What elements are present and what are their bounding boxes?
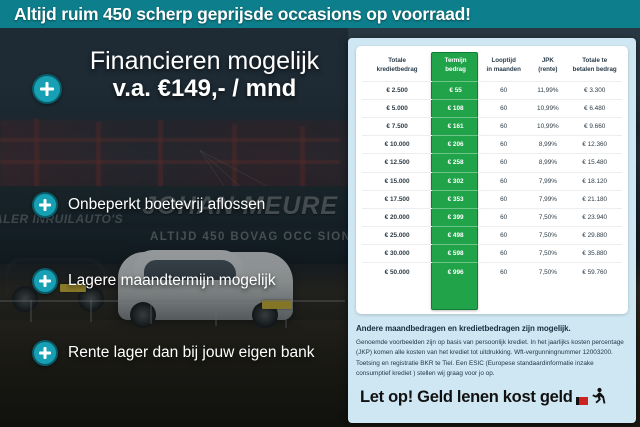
col-header-krediet-bottom: kredietbedrag <box>377 66 418 73</box>
table-row: € 7.500€ 1616010,99%€ 9.660 <box>362 117 622 135</box>
plus-icon <box>32 268 58 294</box>
running-man-icon <box>579 387 605 407</box>
rate-cell-termijn: € 498 <box>432 227 479 245</box>
rate-cell-looptijd: 60 <box>479 172 528 190</box>
table-row: € 12.500€ 258608,99%€ 15.480 <box>362 154 622 172</box>
rate-cell-krediet: € 7.500 <box>362 117 432 135</box>
rate-cell-looptijd: 60 <box>479 81 528 99</box>
rate-cell-totaal: € 3.300 <box>567 81 622 99</box>
col-header-krediet: Totale kredietbedrag <box>362 50 432 81</box>
ad-banner-root: JOHAN MEURE ALER INRUILAUTO'S ALTIJD 450… <box>0 0 640 427</box>
hero-plus-badge-wrap <box>32 74 66 104</box>
plus-icon <box>32 74 62 104</box>
rate-cell-jkp: 7,50% <box>528 227 567 245</box>
rate-table-card: Totale kredietbedrag Termijn bedrag Loop… <box>356 46 628 314</box>
rate-table-body: € 2.500€ 556011,99%€ 3.300€ 5.000€ 10860… <box>362 81 622 281</box>
rate-cell-termijn: € 302 <box>432 172 479 190</box>
rate-cell-looptijd: 60 <box>479 154 528 172</box>
rate-cell-jkp: 7,99% <box>528 172 567 190</box>
rate-cell-jkp: 7,50% <box>528 263 567 281</box>
table-row: € 50.000€ 996607,50%€ 59.760 <box>362 263 622 281</box>
benefit-item-3: Rente lager dan bij jouw eigen bank <box>32 340 352 366</box>
table-row: € 10.000€ 206608,99%€ 12.360 <box>362 136 622 154</box>
hero-headline-line2: v.a. €149,- / mnd <box>62 74 347 104</box>
col-header-jkp-top: JPK <box>542 57 554 64</box>
col-header-totaal: Totale te betalen bedrag <box>567 50 622 81</box>
rate-cell-termijn: € 996 <box>432 263 479 281</box>
benefit-label-1: Onbeperkt boetevrij aflossen <box>68 196 265 214</box>
rate-cell-jkp: 7,50% <box>528 208 567 226</box>
rate-cell-krediet: € 10.000 <box>362 136 432 154</box>
warning-row: Let op! Geld lenen kost geld <box>360 387 626 407</box>
table-row: € 5.000€ 1086010,99%€ 6.480 <box>362 99 622 117</box>
col-header-termijn: Termijn bedrag <box>432 50 479 81</box>
rate-cell-totaal: € 18.120 <box>567 172 622 190</box>
rate-cell-jkp: 8,99% <box>528 136 567 154</box>
rate-cell-krediet: € 17.500 <box>362 190 432 208</box>
table-row: € 30.000€ 598607,50%€ 35.880 <box>362 245 622 263</box>
rate-cell-totaal: € 35.880 <box>567 245 622 263</box>
table-row: € 15.000€ 302607,99%€ 18.120 <box>362 172 622 190</box>
rate-cell-looptijd: 60 <box>479 245 528 263</box>
rate-cell-termijn: € 161 <box>432 117 479 135</box>
top-banner: Altijd ruim 450 scherp geprijsde occasio… <box>0 0 640 28</box>
plus-icon <box>32 340 58 366</box>
rate-cell-termijn: € 55 <box>432 81 479 99</box>
rate-cell-totaal: € 23.940 <box>567 208 622 226</box>
rate-cell-krediet: € 5.000 <box>362 99 432 117</box>
rate-cell-looptijd: 60 <box>479 208 528 226</box>
rate-cell-looptijd: 60 <box>479 136 528 154</box>
rate-cell-termijn: € 399 <box>432 208 479 226</box>
col-header-totaal-top: Totale te <box>582 57 607 64</box>
benefit-label-3: Rente lager dan bij jouw eigen bank <box>68 344 314 362</box>
table-row: € 17.500€ 353607,99%€ 21.180 <box>362 190 622 208</box>
rate-cell-totaal: € 12.360 <box>567 136 622 154</box>
col-header-krediet-top: Totale <box>388 57 406 64</box>
table-header-row: Totale kredietbedrag Termijn bedrag Loop… <box>362 50 622 81</box>
col-header-looptijd-bottom: in maanden <box>486 66 520 73</box>
rate-cell-totaal: € 59.760 <box>567 263 622 281</box>
rate-cell-jkp: 11,99% <box>528 81 567 99</box>
rate-cell-krediet: € 25.000 <box>362 227 432 245</box>
rate-cell-totaal: € 6.480 <box>567 99 622 117</box>
col-header-looptijd-top: Looptijd <box>491 57 515 64</box>
hero-headline-line1: Financieren mogelijk <box>62 48 347 74</box>
panel-note-title: Andere maandbedragen en kredietbedragen … <box>356 324 628 333</box>
table-row: € 25.000€ 498607,50%€ 29.880 <box>362 227 622 245</box>
rate-cell-looptijd: 60 <box>479 117 528 135</box>
rate-cell-termijn: € 258 <box>432 154 479 172</box>
col-header-jkp-bottom: (rente) <box>538 66 557 73</box>
table-row: € 20.000€ 399607,50%€ 23.940 <box>362 208 622 226</box>
rate-cell-looptijd: 60 <box>479 227 528 245</box>
rate-cell-jkp: 7,50% <box>528 245 567 263</box>
finance-info-panel: Totale kredietbedrag Termijn bedrag Loop… <box>348 38 636 423</box>
rate-cell-looptijd: 60 <box>479 99 528 117</box>
panel-note-body: Genoemde voorbeelden zijn op basis van p… <box>356 338 628 380</box>
benefit-item-2: Lagere maandtermijn mogelijk <box>32 268 352 294</box>
rate-cell-jkp: 10,99% <box>528 99 567 117</box>
benefit-label-2: Lagere maandtermijn mogelijk <box>68 272 276 290</box>
rate-table: Totale kredietbedrag Termijn bedrag Loop… <box>362 50 622 281</box>
rate-cell-krediet: € 20.000 <box>362 208 432 226</box>
benefit-item-1: Onbeperkt boetevrij aflossen <box>32 192 352 218</box>
rate-cell-totaal: € 21.180 <box>567 190 622 208</box>
rate-cell-jkp: 10,99% <box>528 117 567 135</box>
rate-cell-totaal: € 29.880 <box>567 227 622 245</box>
rate-cell-krediet: € 15.000 <box>362 172 432 190</box>
rate-cell-krediet: € 12.500 <box>362 154 432 172</box>
banner-headline: Altijd ruim 450 scherp geprijsde occasio… <box>14 4 471 25</box>
col-header-jkp: JPK (rente) <box>528 50 567 81</box>
col-header-termijn-bottom: bedrag <box>445 66 466 73</box>
rate-cell-krediet: € 30.000 <box>362 245 432 263</box>
rate-cell-termijn: € 206 <box>432 136 479 154</box>
hero-headline: Financieren mogelijk v.a. €149,- / mnd <box>62 48 347 104</box>
col-header-totaal-bottom: betalen bedrag <box>573 66 617 73</box>
rate-cell-krediet: € 50.000 <box>362 263 432 281</box>
rate-cell-termijn: € 598 <box>432 245 479 263</box>
rate-cell-termijn: € 353 <box>432 190 479 208</box>
rate-cell-termijn: € 108 <box>432 99 479 117</box>
plus-icon <box>32 192 58 218</box>
rate-cell-totaal: € 15.480 <box>567 154 622 172</box>
col-header-termijn-top: Termijn <box>445 57 467 64</box>
rate-cell-totaal: € 9.660 <box>567 117 622 135</box>
rate-cell-jkp: 7,99% <box>528 190 567 208</box>
table-row: € 2.500€ 556011,99%€ 3.300 <box>362 81 622 99</box>
rate-cell-looptijd: 60 <box>479 263 528 281</box>
rate-cell-krediet: € 2.500 <box>362 81 432 99</box>
warning-text: Let op! Geld lenen kost geld <box>360 388 573 407</box>
rate-cell-jkp: 8,99% <box>528 154 567 172</box>
rate-cell-looptijd: 60 <box>479 190 528 208</box>
col-header-looptijd: Looptijd in maanden <box>479 50 528 81</box>
